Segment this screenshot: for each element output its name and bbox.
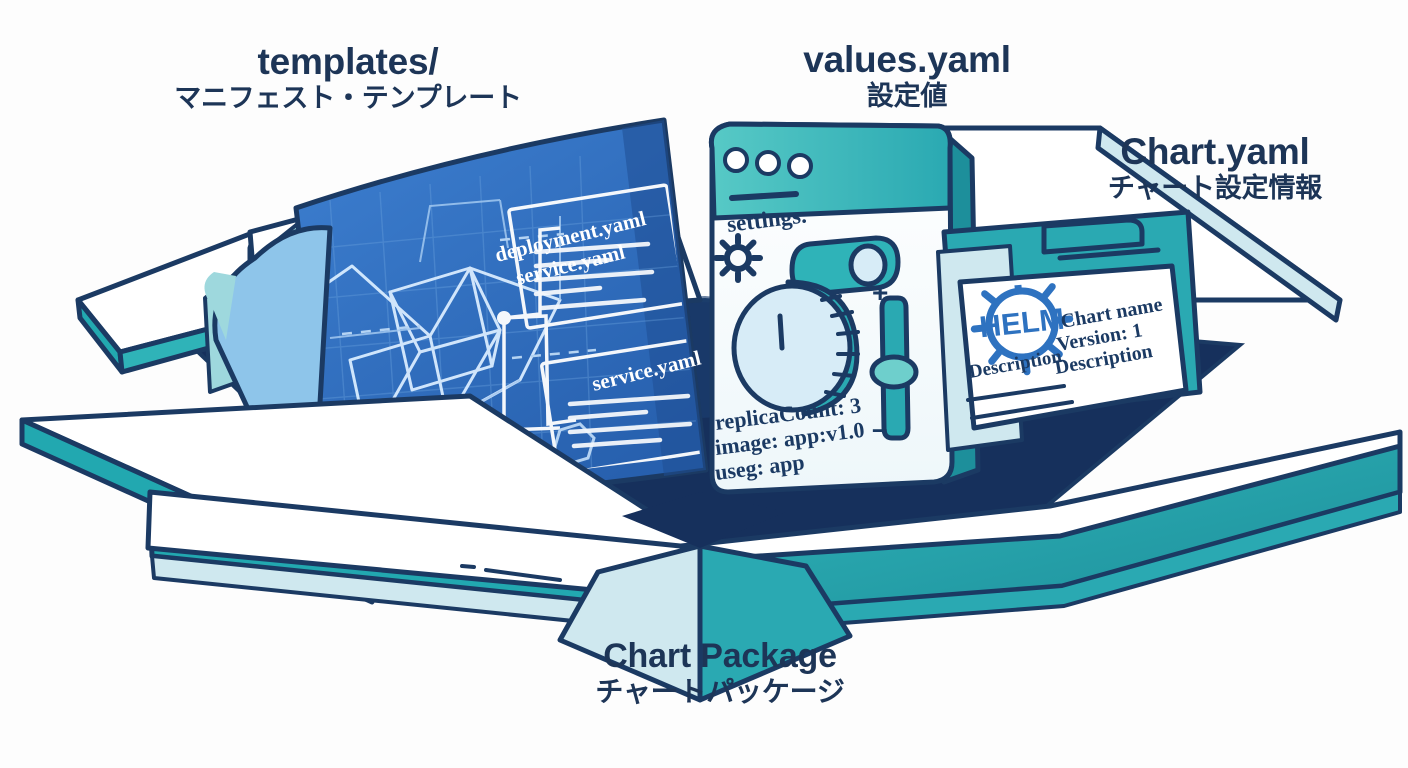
- label-chart-yaml: Chart.yaml チャート設定情報: [1040, 132, 1390, 203]
- blueprint-node-dot: [497, 311, 511, 325]
- panel-titlebar: [711, 124, 950, 218]
- dial-indicator: [780, 316, 782, 348]
- slider-minus-label: –: [872, 413, 888, 444]
- slider-thumb[interactable]: [872, 357, 916, 387]
- label-values-en: values.yaml: [742, 40, 1072, 80]
- window-dot-2: [757, 152, 779, 174]
- chart-folder-tab: [1044, 220, 1142, 252]
- label-values-yaml: values.yaml 設定値: [742, 40, 1072, 111]
- label-chartyaml-jp: チャート設定情報: [1040, 174, 1390, 203]
- window-dot-3: [789, 155, 811, 177]
- label-chartyaml-en: Chart.yaml: [1040, 132, 1390, 172]
- label-values-jp: 設定値: [742, 82, 1072, 111]
- label-templates: templates/ マニフェスト・テンプレート: [138, 42, 558, 113]
- illustration-canvas: deployment.yaml service.yaml service.yam…: [0, 0, 1408, 768]
- values-yaml-settings-panel: + – settings. replicaCount: 3 image: app…: [711, 124, 978, 492]
- panel-heading-rule: [732, 194, 796, 198]
- panel-window-dots: [725, 149, 811, 177]
- label-package-jp: チャートパッケージ: [520, 677, 920, 707]
- slider-plus-label: +: [872, 277, 888, 308]
- label-package-en: Chart Package: [520, 638, 920, 675]
- label-templates-en: templates/: [138, 42, 558, 82]
- label-chart-package: Chart Package チャートパッケージ: [520, 638, 920, 707]
- window-dot-1: [725, 149, 747, 171]
- label-templates-jp: マニフェスト・テンプレート: [138, 84, 558, 113]
